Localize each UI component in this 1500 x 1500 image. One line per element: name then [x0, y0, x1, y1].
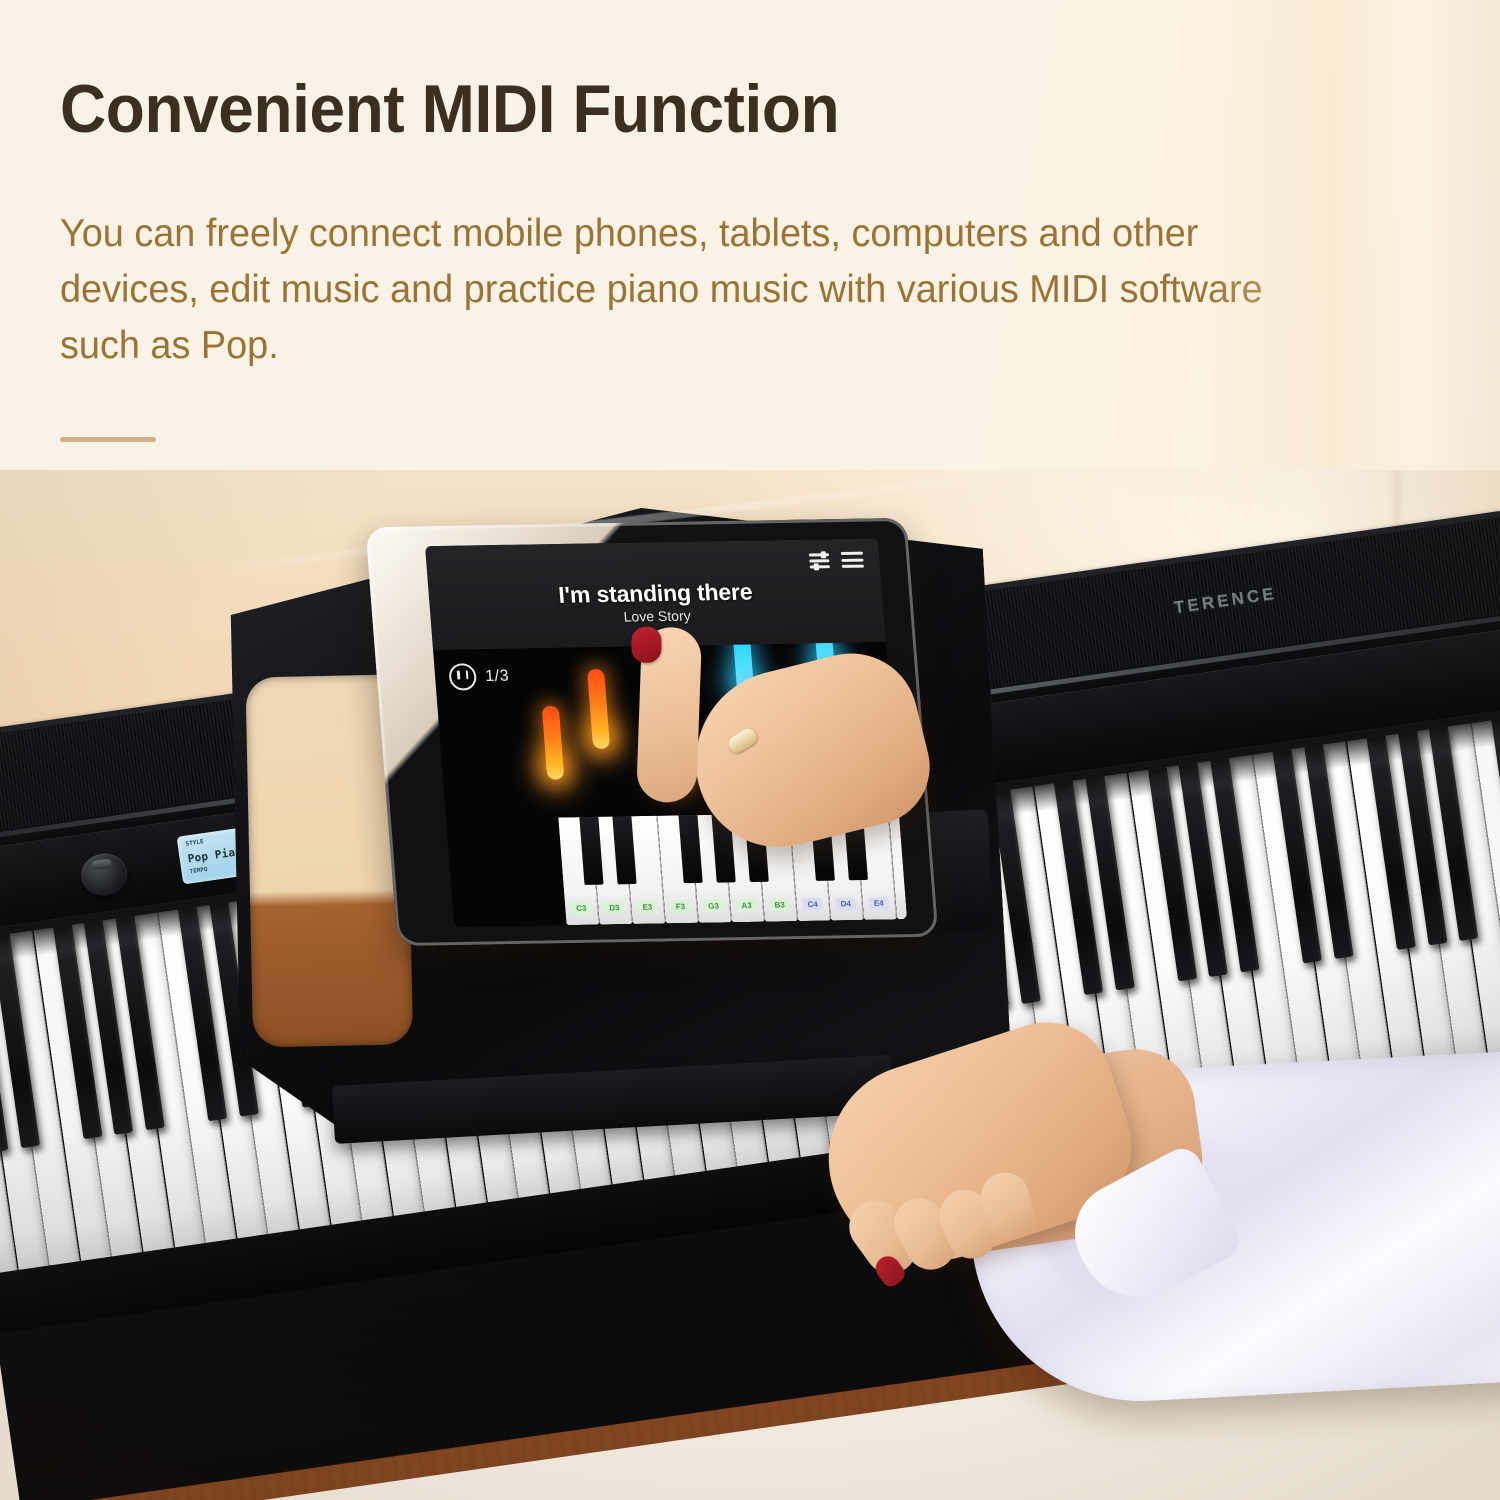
body-description: You can freely connect mobile phones, ta…	[60, 206, 1331, 374]
copy-block: Convenient MIDI Function You can freely …	[0, 0, 1500, 470]
app-key-label: F3	[670, 900, 691, 913]
page-title: Convenient MIDI Function	[60, 74, 839, 145]
app-key-label: D3	[604, 901, 625, 914]
app-key-label: C3	[571, 902, 592, 915]
app-key-label: B3	[769, 898, 790, 911]
volume-knob[interactable]	[78, 851, 130, 899]
app-key-label: C4	[802, 898, 823, 911]
app-key-label: D4	[835, 897, 856, 910]
app-key-label: G3	[703, 899, 724, 912]
left-index-fingernail	[631, 627, 661, 663]
product-photo: TERENCE STYLE Pop Piano TEMPO	[0, 410, 1500, 1500]
progress-counter: 1/3	[485, 667, 510, 685]
accent-divider	[60, 437, 156, 442]
app-icon-group[interactable]	[809, 551, 864, 570]
lcd-line-1: STYLE	[185, 838, 204, 848]
app-key-label: A3	[736, 899, 757, 912]
app-key-label: E3	[637, 901, 658, 914]
product-feature-image: Convenient MIDI Function You can freely …	[0, 0, 1500, 1500]
left-hand-palm	[676, 639, 942, 864]
playback-controls[interactable]: 1/3	[448, 663, 510, 691]
pause-icon[interactable]	[448, 663, 477, 690]
app-key-label: E4	[868, 897, 889, 910]
hamburger-menu-icon[interactable]	[841, 552, 864, 568]
sliders-icon[interactable]	[809, 551, 830, 569]
lcd-line-3: TEMPO	[189, 866, 208, 876]
